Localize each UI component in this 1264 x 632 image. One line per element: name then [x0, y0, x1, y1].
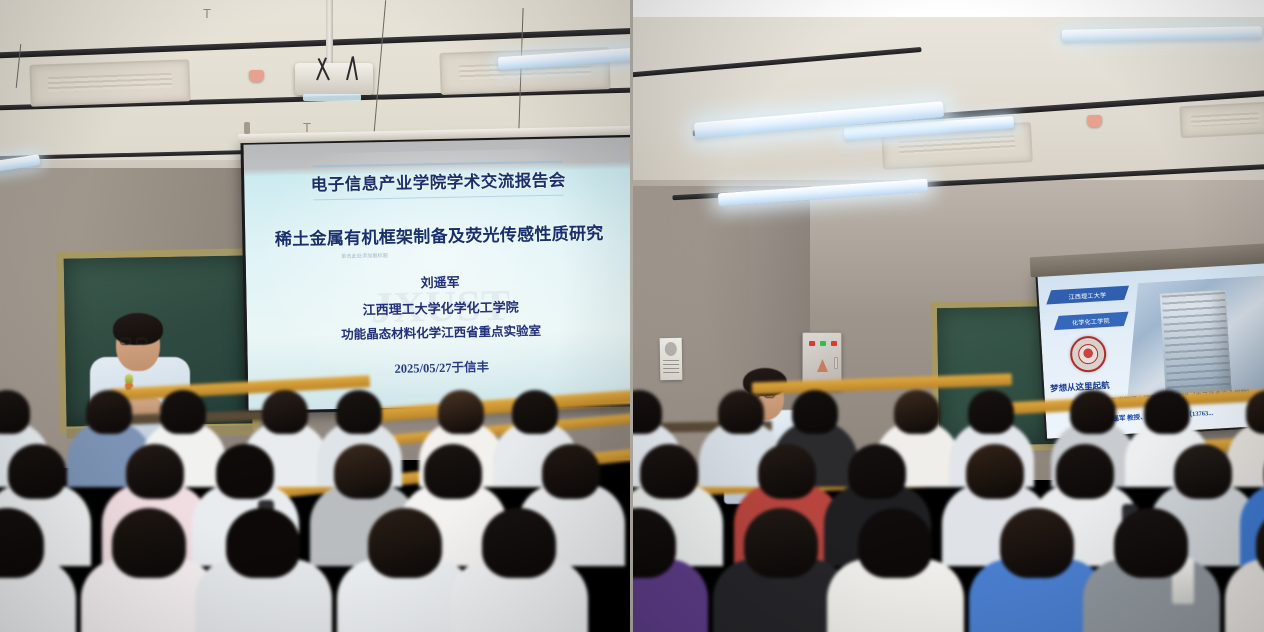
- audience-member-head: [1144, 390, 1190, 434]
- audience-member-head: [424, 444, 482, 499]
- audience-member-head: [226, 508, 300, 578]
- audience-member-head: [848, 444, 906, 499]
- audience-right: [632, 382, 1264, 632]
- audience-member-head: [1056, 444, 1114, 499]
- slide-speaker-name: 刘遥军: [420, 272, 459, 292]
- audience-member-head: [334, 444, 392, 499]
- slide-placeholder-text: 单击此处添加副标题: [341, 252, 388, 260]
- audience-member-head: [718, 390, 764, 434]
- audience-member-head: [894, 390, 940, 434]
- glasses-icon: [136, 338, 147, 345]
- slide-date-location: 2025/05/27于信丰: [394, 356, 489, 377]
- banner-university-label: 江西理工大学: [1069, 289, 1107, 300]
- projector-bracket: [300, 56, 370, 78]
- screen-hook: [244, 122, 250, 134]
- audience-member-head: [368, 508, 442, 578]
- audience-member-head: [1000, 508, 1074, 578]
- audience-member-head: [512, 390, 558, 434]
- bench: [992, 389, 1264, 416]
- audience-member-head: [336, 390, 382, 434]
- banner-college-label: 化学化工学院: [1072, 315, 1110, 326]
- university-emblem-icon: [1069, 335, 1107, 373]
- audience-member-head: [86, 390, 132, 434]
- wall-notice-poster: [660, 338, 683, 380]
- audience-member-head: [0, 390, 30, 434]
- audience-member-head: [1174, 444, 1232, 499]
- banner-university: 江西理工大学: [1046, 286, 1129, 305]
- ceiling-ac-vent-icon: [29, 59, 190, 107]
- glasses-icon: [120, 338, 131, 345]
- audience-member-head: [262, 390, 308, 434]
- audience-member-head: [632, 390, 662, 434]
- smoke-detector-icon: [1087, 115, 1102, 127]
- audience-member-head: [758, 444, 816, 499]
- slide-laboratory: 功能晶态材料化学江西省重点实验室: [341, 320, 541, 343]
- audience-member-head: [966, 444, 1024, 499]
- audience-member-head: [1070, 390, 1116, 434]
- slide-rule-bottom: [314, 195, 564, 201]
- audience-member-head: [858, 508, 932, 578]
- audience-member-head: [438, 390, 484, 434]
- audience-member-shoulders: [1225, 559, 1264, 632]
- ceiling-tmark: T: [203, 6, 211, 21]
- audience-member-head: [968, 390, 1014, 434]
- audience-member-head: [126, 444, 184, 499]
- audience-member-head: [744, 508, 818, 578]
- audience-member-head: [640, 444, 698, 499]
- audience-member-head: [1114, 508, 1188, 578]
- audience-member-head: [482, 508, 556, 578]
- banner-college: 化学化工学院: [1054, 312, 1129, 330]
- right-photo-panel: 江西理工大学 化学化工学院 梦想从这里起航 ——2026年化学化工学院硕士研究生…: [632, 0, 1264, 632]
- audience-member-head: [216, 444, 274, 499]
- top-white-strip: [632, 0, 1264, 17]
- photo-pair-stage: T T JXUST 电子信息产业学院学术交流报告会 稀土金属有机框架制备及荧光传…: [0, 0, 1264, 632]
- audience-member-head: [160, 390, 206, 434]
- slide-title: 电子信息产业学院学术交流报告会: [311, 167, 566, 196]
- audience-left: [0, 382, 632, 632]
- left-photo-panel: T T JXUST 电子信息产业学院学术交流报告会 稀土金属有机框架制备及荧光传…: [0, 0, 632, 632]
- smoke-detector-icon: [249, 70, 264, 82]
- audience-member-head: [542, 444, 600, 499]
- slide-content: 电子信息产业学院学术交流报告会 稀土金属有机框架制备及荧光传感性质研究 单击此处…: [244, 159, 632, 410]
- slide-subtitle: 稀土金属有机框架制备及荧光传感性质研究: [275, 219, 604, 250]
- fire-alarm-leds: [809, 341, 837, 346]
- audience-member-head: [112, 508, 186, 578]
- slide-organization: 江西理工大学化学化工学院: [362, 296, 518, 318]
- audience-member-head: [8, 444, 66, 499]
- fire-alarm-handle: [834, 357, 838, 369]
- panel-divider: [630, 0, 633, 632]
- audience-member-head: [792, 390, 838, 434]
- ceiling-ac-vent-icon: [1179, 102, 1264, 139]
- projection-screen: JXUST 电子信息产业学院学术交流报告会 稀土金属有机框架制备及荧光传感性质研…: [240, 134, 632, 414]
